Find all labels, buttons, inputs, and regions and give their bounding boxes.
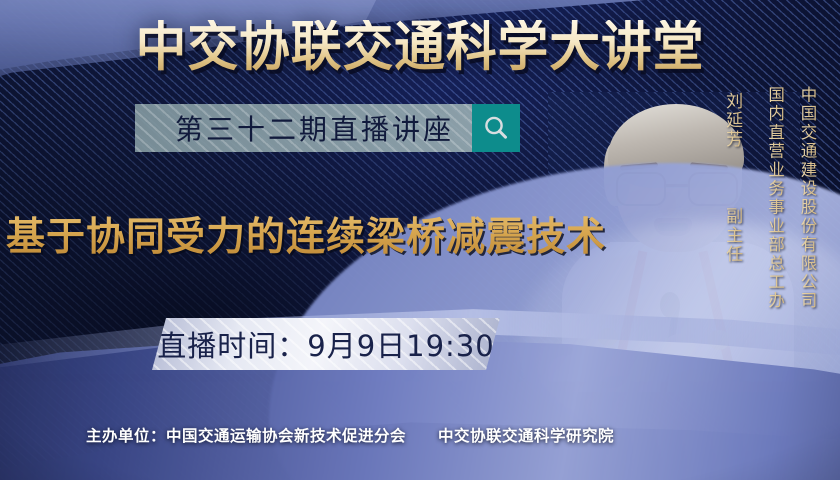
- speaker-company: 中国交通建设股份有限公司: [793, 86, 822, 310]
- speaker-department: 国内直营业务事业部总工办: [760, 86, 789, 310]
- organizer-secondary: 中交协联交通科学研究院: [438, 427, 614, 445]
- broadcast-time-badge: 直播时间：9月9日19:30: [152, 318, 500, 370]
- organizer-primary: 主办单位：中国交通运输协会新技术促进分会: [86, 427, 406, 445]
- speaker-title: 副主任: [722, 207, 742, 264]
- search-icon: [481, 113, 511, 143]
- speaker-name: 刘延芳: [722, 92, 742, 149]
- organizer-footer: 主办单位：中国交通运输协会新技术促进分会 中交协联交通科学研究院: [0, 424, 840, 446]
- search-button[interactable]: [472, 104, 520, 152]
- speaker-credits: 中国交通建设股份有限公司 国内直营业务事业部总工办 刘延芳 副主任: [717, 86, 822, 310]
- page-title: 中交协联交通科学大讲堂: [25, 20, 815, 74]
- episode-banner: 第三十二期直播讲座: [135, 104, 520, 152]
- episode-label: 第三十二期直播讲座: [135, 108, 472, 148]
- live-lecture-poster: 中交协联交通科学大讲堂 第三十二期直播讲座 基于协同受力的连续梁桥减震技术 直播…: [0, 0, 840, 480]
- lecture-title: 基于协同受力的连续梁桥减震技术: [0, 206, 612, 262]
- broadcast-time-label: 直播时间：9月9日19:30: [157, 323, 494, 365]
- speaker-identity: 刘延芳 副主任: [717, 92, 747, 264]
